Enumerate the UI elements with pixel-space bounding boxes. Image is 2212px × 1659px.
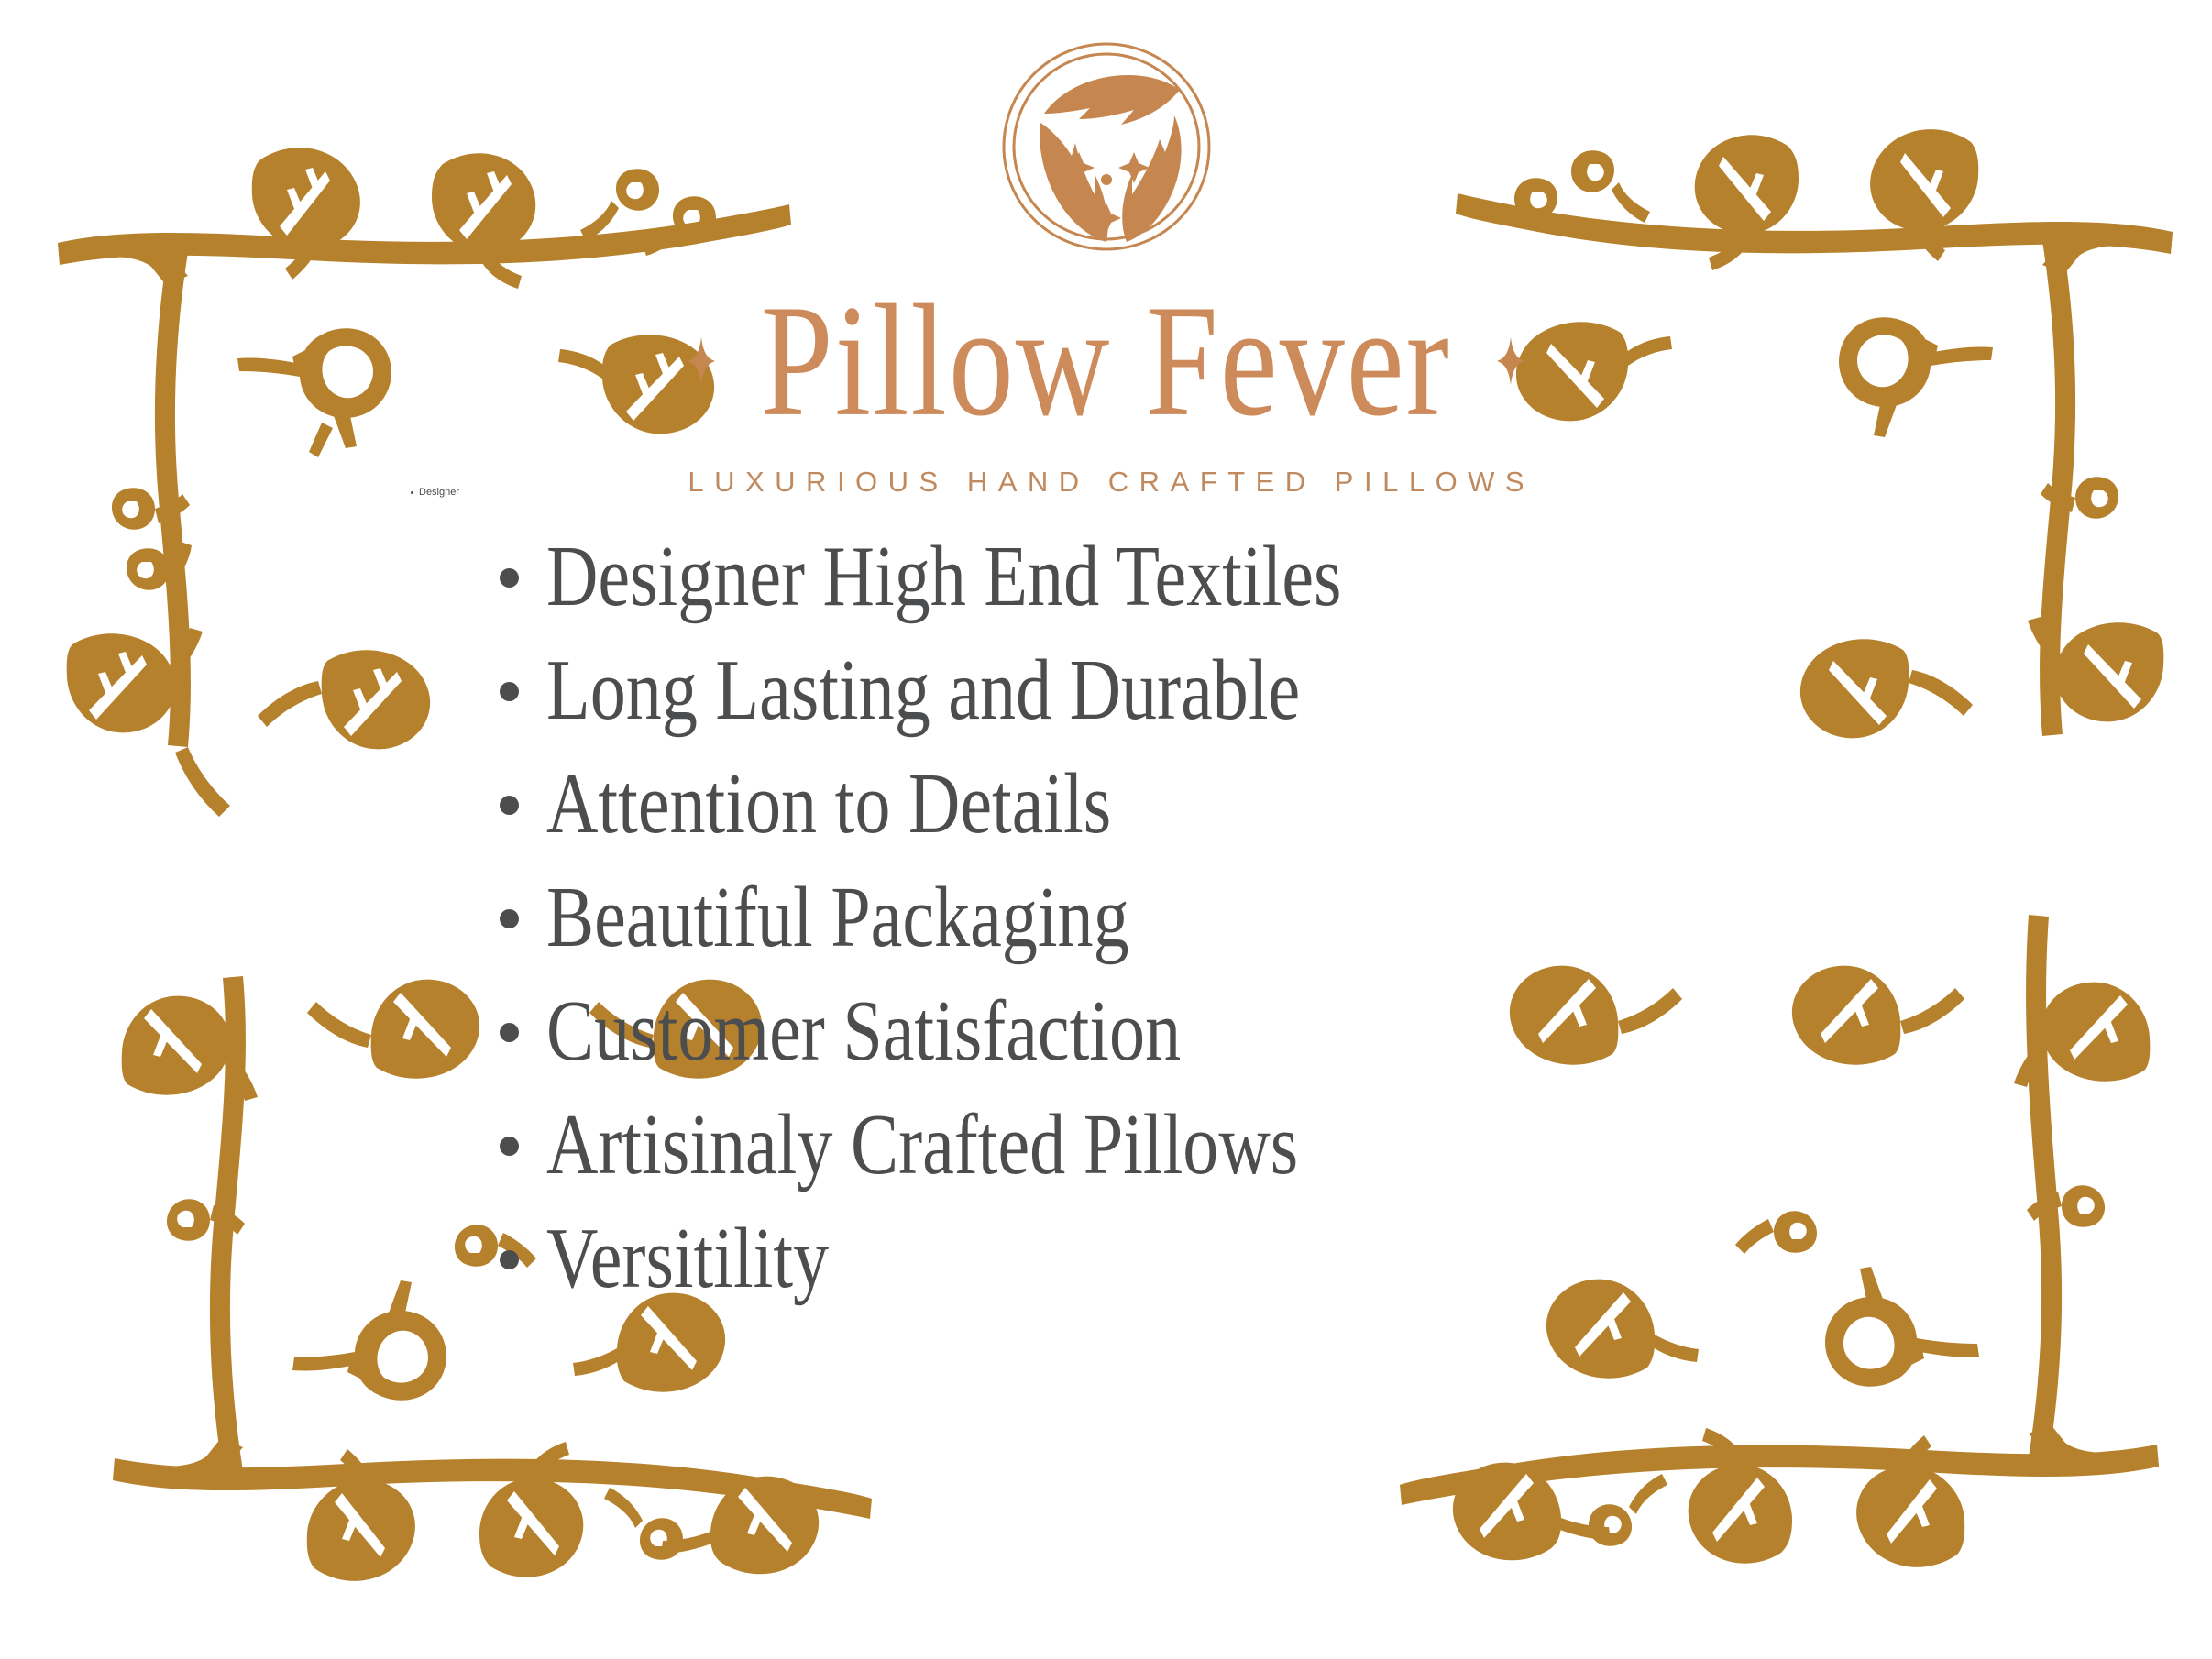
feature-label: Long Lasting and Durable [546,648,1300,734]
bullet-dot-icon [500,1250,519,1269]
bullet-dot-icon [500,568,519,588]
list-item: Artisinaly Crafted Pillows [500,1089,1645,1203]
list-item: Beautiful Packaging [500,862,1645,975]
bullet-dot-icon [500,796,519,815]
diamond-sparkle-right-icon [1497,337,1524,385]
diamond-sparkle-left-icon [688,337,715,385]
poster-canvas: Pillow Fever LUXURIOUS HAND CRAFTED PILL… [0,0,2212,1659]
list-item: Versitility [500,1203,1645,1316]
bullet-dot-icon [500,1137,519,1156]
feature-list: Designer High End Textiles Long Lasting … [500,521,1645,1316]
stray-note-label: Designer [419,487,459,498]
feature-label: Customer Satisfaction [546,989,1181,1075]
stray-note-bullet-icon [411,491,413,494]
feature-label: Designer High End Textiles [546,534,1341,621]
list-item: Attention to Details [500,748,1645,862]
list-item: Customer Satisfaction [500,975,1645,1089]
bullet-dot-icon [500,1023,519,1042]
feather-circle-emblem-icon [995,35,1218,258]
list-item: Long Lasting and Durable [500,634,1645,748]
brand-tagline: LUXURIOUS HAND CRAFTED PILLOWS [0,466,2212,499]
stray-designer-note: Designer [411,487,459,498]
brand-wordmark: Pillow Fever [0,293,2212,429]
feature-label: Attention to Details [546,762,1111,848]
page-title: Pillow Fever [761,281,1451,442]
feature-label: Beautiful Packaging [546,875,1129,961]
bullet-dot-icon [500,909,519,928]
list-item: Designer High End Textiles [500,521,1645,634]
feature-label: Artisinaly Crafted Pillows [546,1103,1298,1189]
feature-label: Versitility [546,1216,829,1302]
bullet-dot-icon [500,682,519,701]
